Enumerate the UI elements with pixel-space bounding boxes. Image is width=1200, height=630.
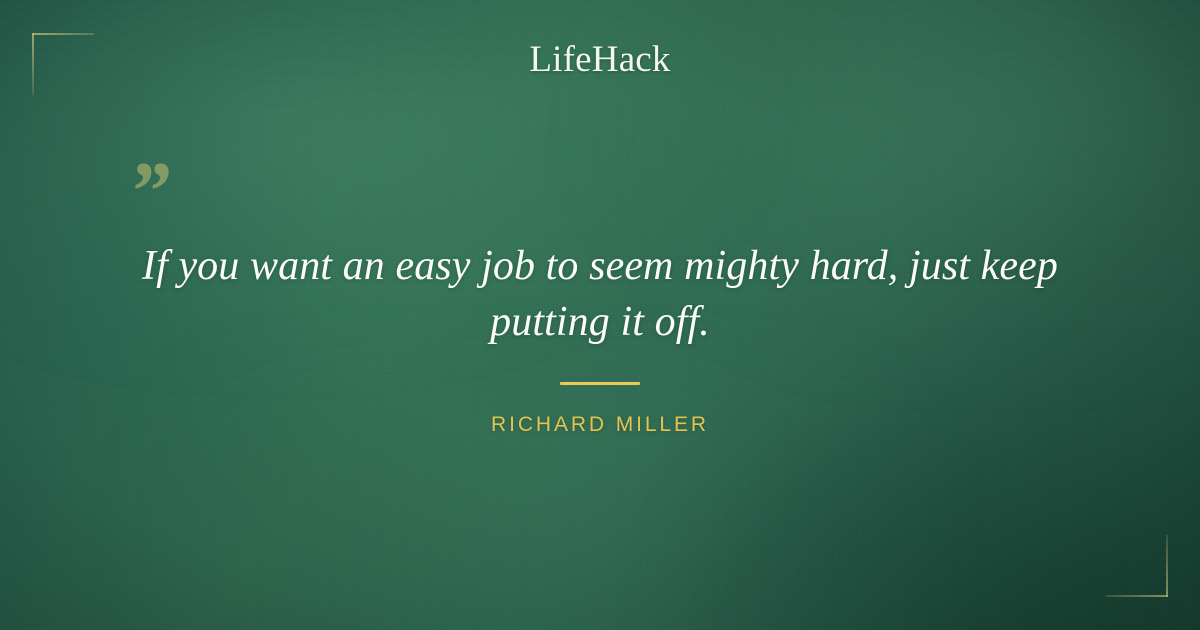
quote-card: LifeHack ” If you want an easy job to se…: [0, 0, 1200, 630]
corner-bracket-top-left-horizontal: [32, 33, 94, 35]
corner-bracket-bottom-right-horizontal: [1106, 595, 1168, 597]
gold-divider: [560, 382, 640, 385]
corner-bracket-bottom-right-icon: [1106, 535, 1168, 597]
quote-line-1: If you want an easy job to seem mighty h…: [120, 238, 1080, 294]
quote-author: RICHARD MILLER: [0, 411, 1200, 439]
quote-line-2: putting it off.: [120, 294, 1080, 350]
quote-block: If you want an easy job to seem mighty h…: [120, 238, 1080, 350]
quotation-mark-icon: ”: [128, 150, 170, 234]
brand-logo: LifeHack: [0, 38, 1200, 82]
corner-bracket-bottom-right-vertical: [1166, 535, 1168, 597]
